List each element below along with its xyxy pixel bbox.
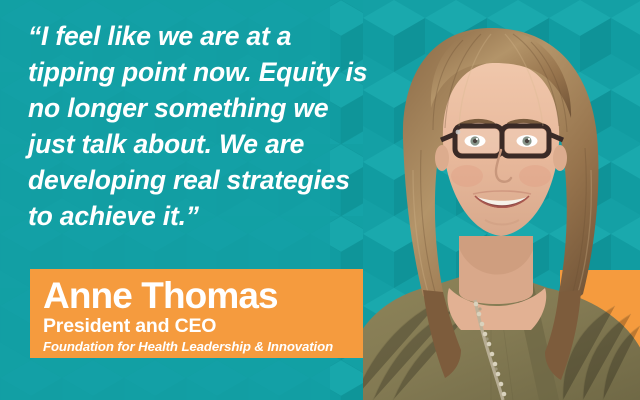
speaker-portrait — [363, 0, 640, 400]
speaker-name: Anne Thomas — [43, 275, 363, 316]
speaker-title: President and CEO — [43, 315, 363, 337]
speaker-organization: Foundation for Health Leadership & Innov… — [43, 338, 363, 355]
attribution-nameplate: Anne Thomas President and CEO Foundation… — [30, 269, 363, 358]
quote-text: “I feel like we are at a tipping point n… — [28, 18, 368, 234]
quote-card: “I feel like we are at a tipping point n… — [0, 0, 640, 400]
